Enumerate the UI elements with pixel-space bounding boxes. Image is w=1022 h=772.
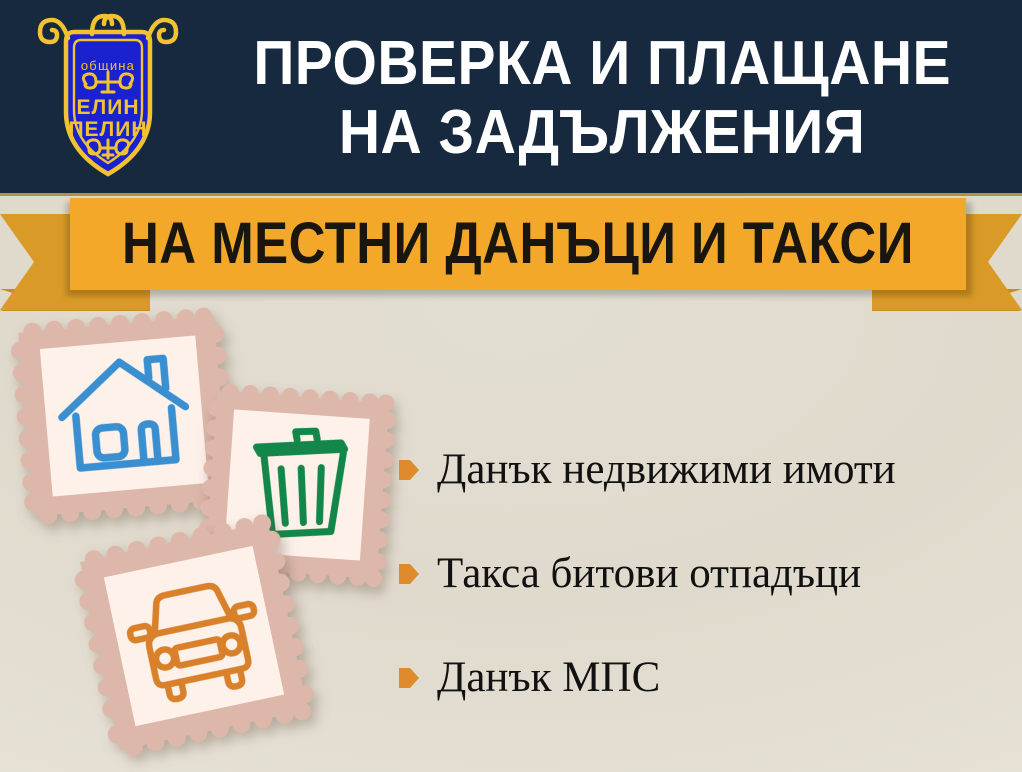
ribbon-label: НА МЕСТНИ ДАНЪЦИ И ТАКСИ — [122, 215, 914, 273]
bullet-arrow-icon — [398, 561, 420, 587]
list-item-label: Данък недвижими имоти — [437, 446, 896, 494]
ribbon-banner: НА МЕСТНИ ДАНЪЦИ И ТАКСИ — [70, 198, 966, 290]
poster-canvas: община ЕЛИН ПЕЛИН ПРОВЕРКА И ПЛАЩАНЕ НА … — [0, 0, 1022, 772]
coat-of-arms-logo: община ЕЛИН ПЕЛИН — [28, 8, 188, 188]
bullet-arrow-icon — [398, 665, 420, 691]
header-gold-rule — [0, 193, 1022, 196]
title-line-1: ПРОВЕРКА И ПЛАЩАНЕ — [253, 29, 951, 98]
page-title: ПРОВЕРКА И ПЛАЩАНЕ НА ЗАДЪЛЖЕНИЯ — [196, 18, 1008, 178]
tax-type-list: Данък недвижими имоти Такса битови отпад… — [398, 418, 1008, 730]
crest-icon: община ЕЛИН ПЕЛИН — [28, 8, 188, 188]
title-line-2: НА ЗАДЪЛЖЕНИЯ — [339, 98, 865, 167]
car-stamp-icon — [68, 510, 319, 761]
list-item-label: Такса битови отпадъци — [437, 550, 861, 598]
list-item[interactable]: Данък недвижими имоти — [398, 418, 1008, 522]
list-item[interactable]: Данък МПС — [398, 626, 1008, 730]
list-item[interactable]: Такса битови отпадъци — [398, 522, 1008, 626]
list-item-label: Данък МПС — [437, 654, 660, 702]
svg-text:ПЕЛИН: ПЕЛИН — [68, 118, 147, 141]
bullet-arrow-icon — [398, 457, 420, 483]
stamp-card-vehicle — [68, 510, 319, 761]
svg-text:ЕЛИН: ЕЛИН — [76, 96, 139, 119]
